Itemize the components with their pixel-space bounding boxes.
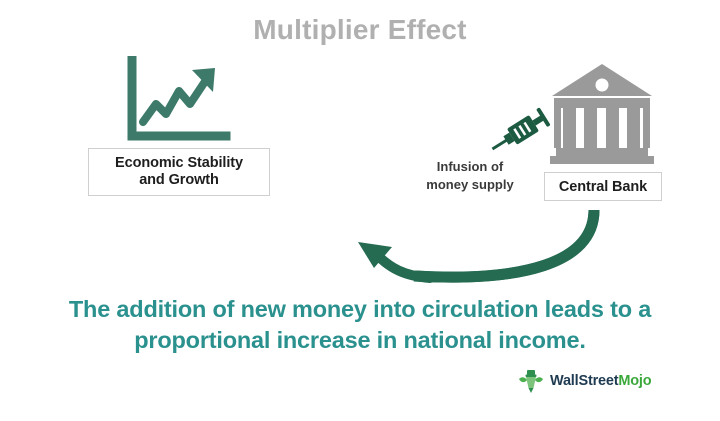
- central-bank-label: Central Bank: [559, 179, 647, 195]
- summary-caption: The addition of new money into circulati…: [24, 294, 696, 356]
- infographic-canvas: Multiplier Effect Economic Stability and…: [0, 0, 720, 421]
- caption-line1: The addition of new money into circulati…: [69, 296, 651, 322]
- infusion-of-money-supply-label: Infusion of money supply: [405, 158, 535, 193]
- economic-stability-label-box: Economic Stability and Growth: [88, 148, 270, 196]
- wallstreetmojo-logo-text: WallStreetMojo: [550, 373, 651, 389]
- logo-text-accent: Mojo: [618, 373, 651, 389]
- curved-flow-arrow: [190, 198, 620, 294]
- infusion-line2: money supply: [426, 177, 513, 192]
- wallstreetmojo-logo: WallStreetMojo: [518, 368, 651, 394]
- economic-stability-line1: Economic Stability: [115, 155, 243, 171]
- central-bank-label-box: Central Bank: [544, 172, 662, 201]
- bank-building-icon: [546, 60, 658, 168]
- syringe-icon: [486, 106, 552, 160]
- logo-text-primary: WallStreet: [550, 373, 618, 389]
- economic-stability-line2: and Growth: [139, 172, 219, 188]
- growth-chart-icon: [122, 56, 234, 144]
- page-title: Multiplier Effect: [0, 14, 720, 46]
- infusion-line1: Infusion of: [437, 159, 503, 174]
- economic-stability-label: Economic Stability and Growth: [115, 155, 243, 189]
- wallstreetmojo-bull-icon: [518, 368, 544, 394]
- caption-line2: proportional increase in national income…: [134, 327, 585, 353]
